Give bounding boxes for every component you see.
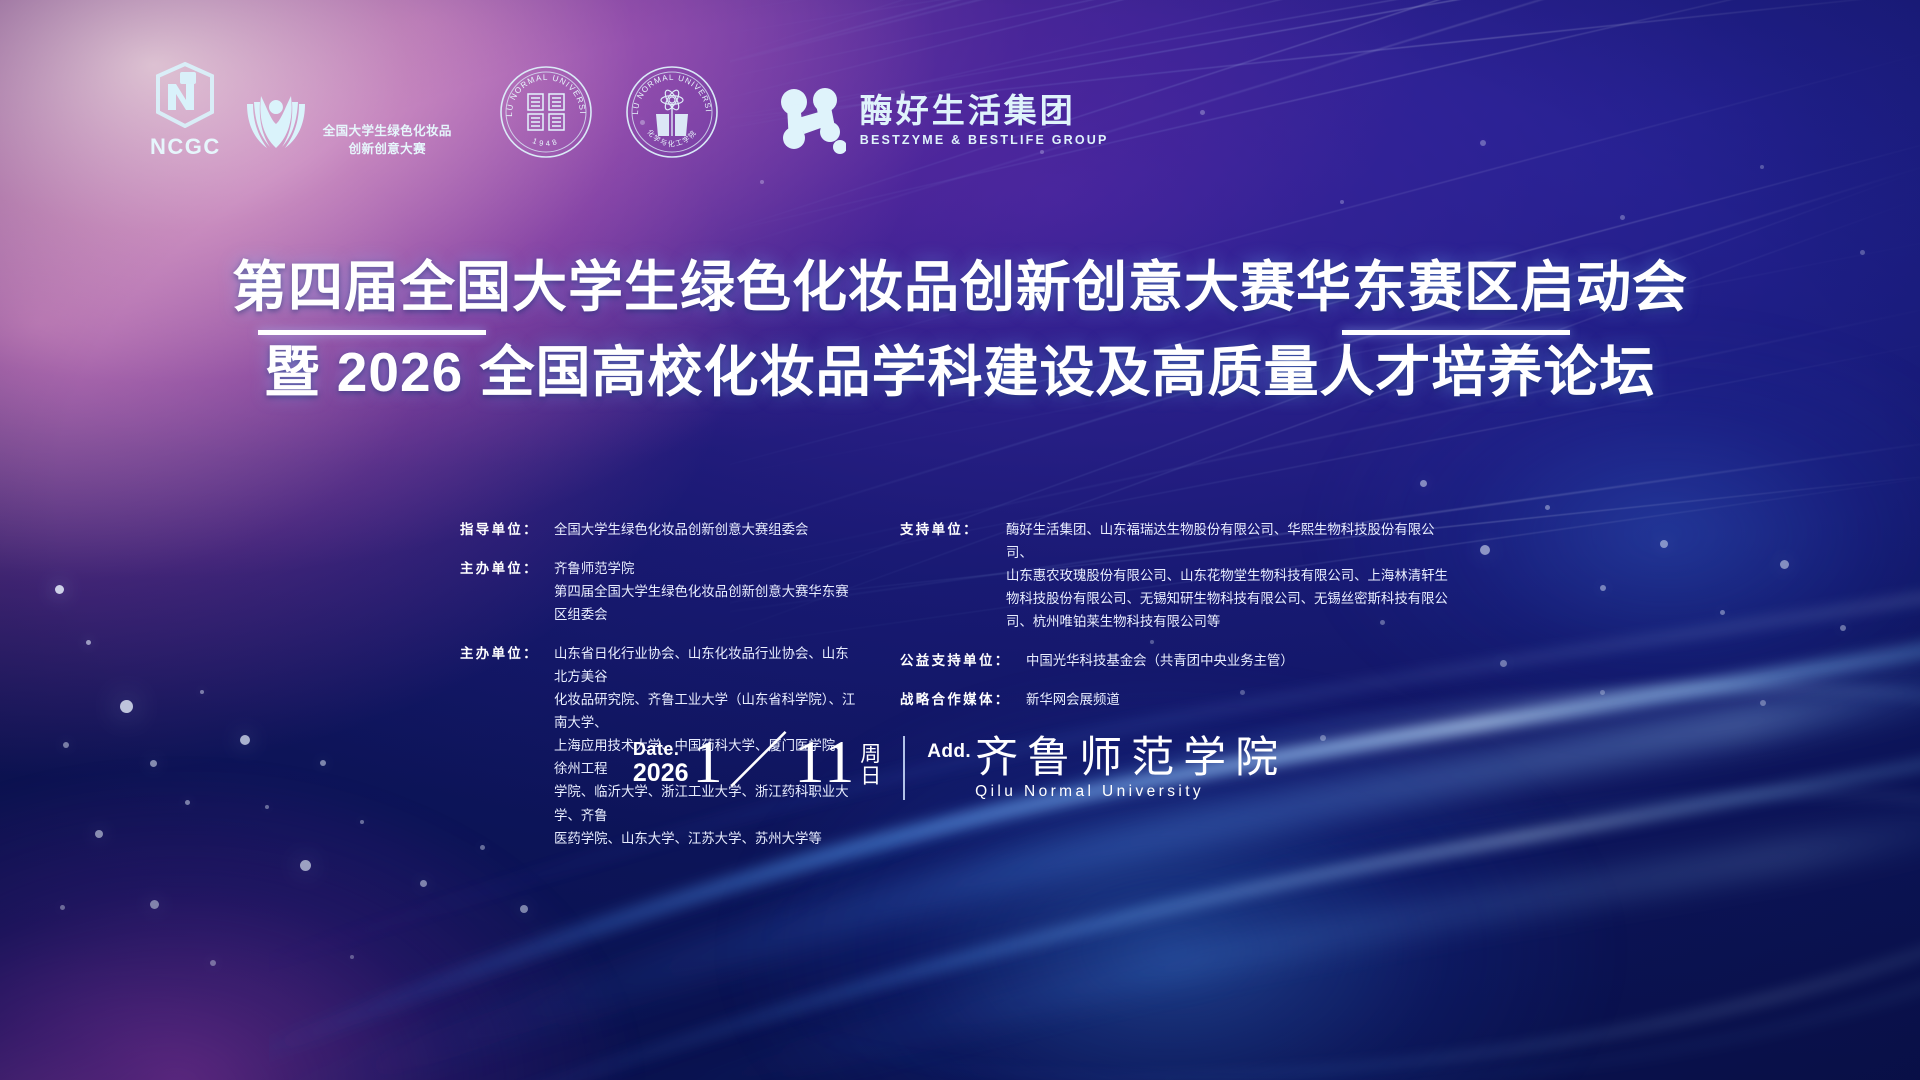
- event-footer: Date. 2026 1 ／ 11 周 日 Add. 齐鲁师范学院 Qilu N…: [0, 735, 1920, 801]
- organizer-row-value: 酶好生活集团、山东福瑞达生物股份有限公司、华熙生物科技股份有限公司、山东惠农玫瑰…: [1006, 518, 1460, 633]
- organizer-row-label: 支持单位：: [900, 518, 1006, 633]
- organizer-row: 支持单位：酶好生活集团、山东福瑞达生物股份有限公司、华熙生物科技股份有限公司、山…: [900, 518, 1460, 633]
- organizer-text-line: 山东惠农玫瑰股份有限公司、山东花物堂生物科技有限公司、上海林清轩生: [1006, 564, 1460, 587]
- qilu-normal-university-seal-icon: QILU NORMAL UNIVERSITY 1948: [498, 64, 594, 160]
- address-cn: 齐鲁师范学院: [975, 735, 1287, 781]
- svg-text:1948: 1948: [531, 136, 560, 148]
- headline-rule-left: [258, 330, 486, 335]
- date-day: 11: [795, 735, 857, 790]
- date-separator: ／: [729, 735, 791, 790]
- date-year: 2026: [633, 760, 689, 786]
- organizer-text-line: 酶好生活集团、山东福瑞达生物股份有限公司、华熙生物科技股份有限公司、: [1006, 518, 1460, 564]
- green-cosmetics-label: 全国大学生绿色化妆品 创新创意大赛: [323, 122, 452, 160]
- date-weekday-line2: 日: [860, 766, 881, 788]
- organizer-text-line: 全国大学生绿色化妆品创新创意大赛组委会: [554, 518, 808, 541]
- ncgc-logo: NCGC: [150, 62, 221, 160]
- organizer-text-line: 新华网会展频道: [1026, 688, 1120, 711]
- address-en: Qilu Normal University: [975, 783, 1287, 801]
- green-cosmetics-line1: 全国大学生绿色化妆品: [323, 124, 452, 138]
- organizer-text-line: 化妆品研究院、齐鲁工业大学（山东省科学院）、江南大学、: [554, 688, 860, 734]
- organizer-row: 公益支持单位：中国光华科技基金会（共青团中央业务主管）: [900, 649, 1460, 672]
- poster-canvas: NCGC 全国大学生绿色化妆品 创新创意大赛: [0, 0, 1920, 1080]
- event-address: Add. 齐鲁师范学院 Qilu Normal University: [927, 735, 1287, 801]
- address-lead-label: Add.: [927, 735, 971, 763]
- bestzyme-molecule-icon: [780, 84, 846, 156]
- footer-divider: [903, 736, 905, 800]
- headline-rule-right: [1342, 330, 1570, 335]
- organizer-row: 指导单位：全国大学生绿色化妆品创新创意大赛组委会: [460, 518, 860, 541]
- date-lead-label: Date.: [633, 739, 680, 760]
- bestzyme-cn-name: 酶好生活集团: [860, 93, 1109, 129]
- date-weekday: 周 日: [860, 744, 881, 791]
- organizer-text-line: 物科技股份有限公司、无锡知研生物科技有限公司、无锡丝密斯科技有限公: [1006, 587, 1460, 610]
- organizer-text-line: 医药学院、山东大学、江苏大学、苏州大学等: [554, 827, 860, 850]
- event-date: Date. 2026 1 ／ 11 周 日: [633, 735, 881, 790]
- headline-line-1: 第四届全国大学生绿色化妆品创新创意大赛华东赛区启动会: [0, 258, 1920, 316]
- sponsor-logo-bar: NCGC 全国大学生绿色化妆品 创新创意大赛: [150, 62, 1109, 160]
- bestzyme-en-name: BESTZYME & BESTLIFE GROUP: [860, 133, 1109, 147]
- date-month: 1: [693, 735, 725, 790]
- green-cosmetics-logo: 全国大学生绿色化妆品 创新创意大赛: [239, 90, 452, 160]
- headline-rules: [0, 320, 1920, 346]
- svg-text:QILU NORMAL UNIVERSITY: QILU NORMAL UNIVERSITY: [624, 64, 713, 115]
- organizer-row-value: 新华网会展频道: [1026, 688, 1120, 711]
- ncgc-wordmark: NCGC: [150, 134, 221, 160]
- organizer-row-label: 指导单位：: [460, 518, 554, 541]
- organizer-text-line: 第四届全国大学生绿色化妆品创新创意大赛华东赛区组委会: [554, 580, 860, 626]
- organizer-row: 主办单位：齐鲁师范学院第四届全国大学生绿色化妆品创新创意大赛华东赛区组委会: [460, 557, 860, 626]
- green-cosmetics-emblem-icon: [239, 90, 313, 160]
- bestzyme-logo: 酶好生活集团 BESTZYME & BESTLIFE GROUP: [780, 84, 1109, 160]
- organizer-text-line: 山东省日化行业协会、山东化妆品行业协会、山东北方美谷: [554, 642, 860, 688]
- organizer-row-value: 全国大学生绿色化妆品创新创意大赛组委会: [554, 518, 808, 541]
- organizer-row-label: 公益支持单位：: [900, 649, 1026, 672]
- organizer-row-label: 战略合作媒体：: [900, 688, 1026, 711]
- green-cosmetics-line2: 创新创意大赛: [349, 142, 426, 156]
- organizer-row-label: 主办单位：: [460, 557, 554, 626]
- ncgc-cube-icon: [154, 62, 216, 128]
- organizer-row-value: 中国光华科技基金会（共青团中央业务主管）: [1026, 649, 1294, 672]
- organizer-row-value: 齐鲁师范学院第四届全国大学生绿色化妆品创新创意大赛华东赛区组委会: [554, 557, 860, 626]
- organizer-row: 战略合作媒体：新华网会展频道: [900, 688, 1460, 711]
- headline-block: 第四届全国大学生绿色化妆品创新创意大赛华东赛区启动会 暨 2026 全国高校化妆…: [0, 258, 1920, 403]
- headline-line-2: 暨 2026 全国高校化妆品学科建设及高质量人才培养论坛: [0, 342, 1920, 403]
- organizer-text-line: 齐鲁师范学院: [554, 557, 860, 580]
- qilu-chemistry-college-seal-icon: QILU NORMAL UNIVERSITY 化学与化工学院: [624, 64, 720, 160]
- organizer-text-line: 中国光华科技基金会（共青团中央业务主管）: [1026, 649, 1294, 672]
- date-weekday-line1: 周: [860, 744, 881, 766]
- organizer-text-line: 司、杭州唯铂莱生物科技有限公司等: [1006, 610, 1460, 633]
